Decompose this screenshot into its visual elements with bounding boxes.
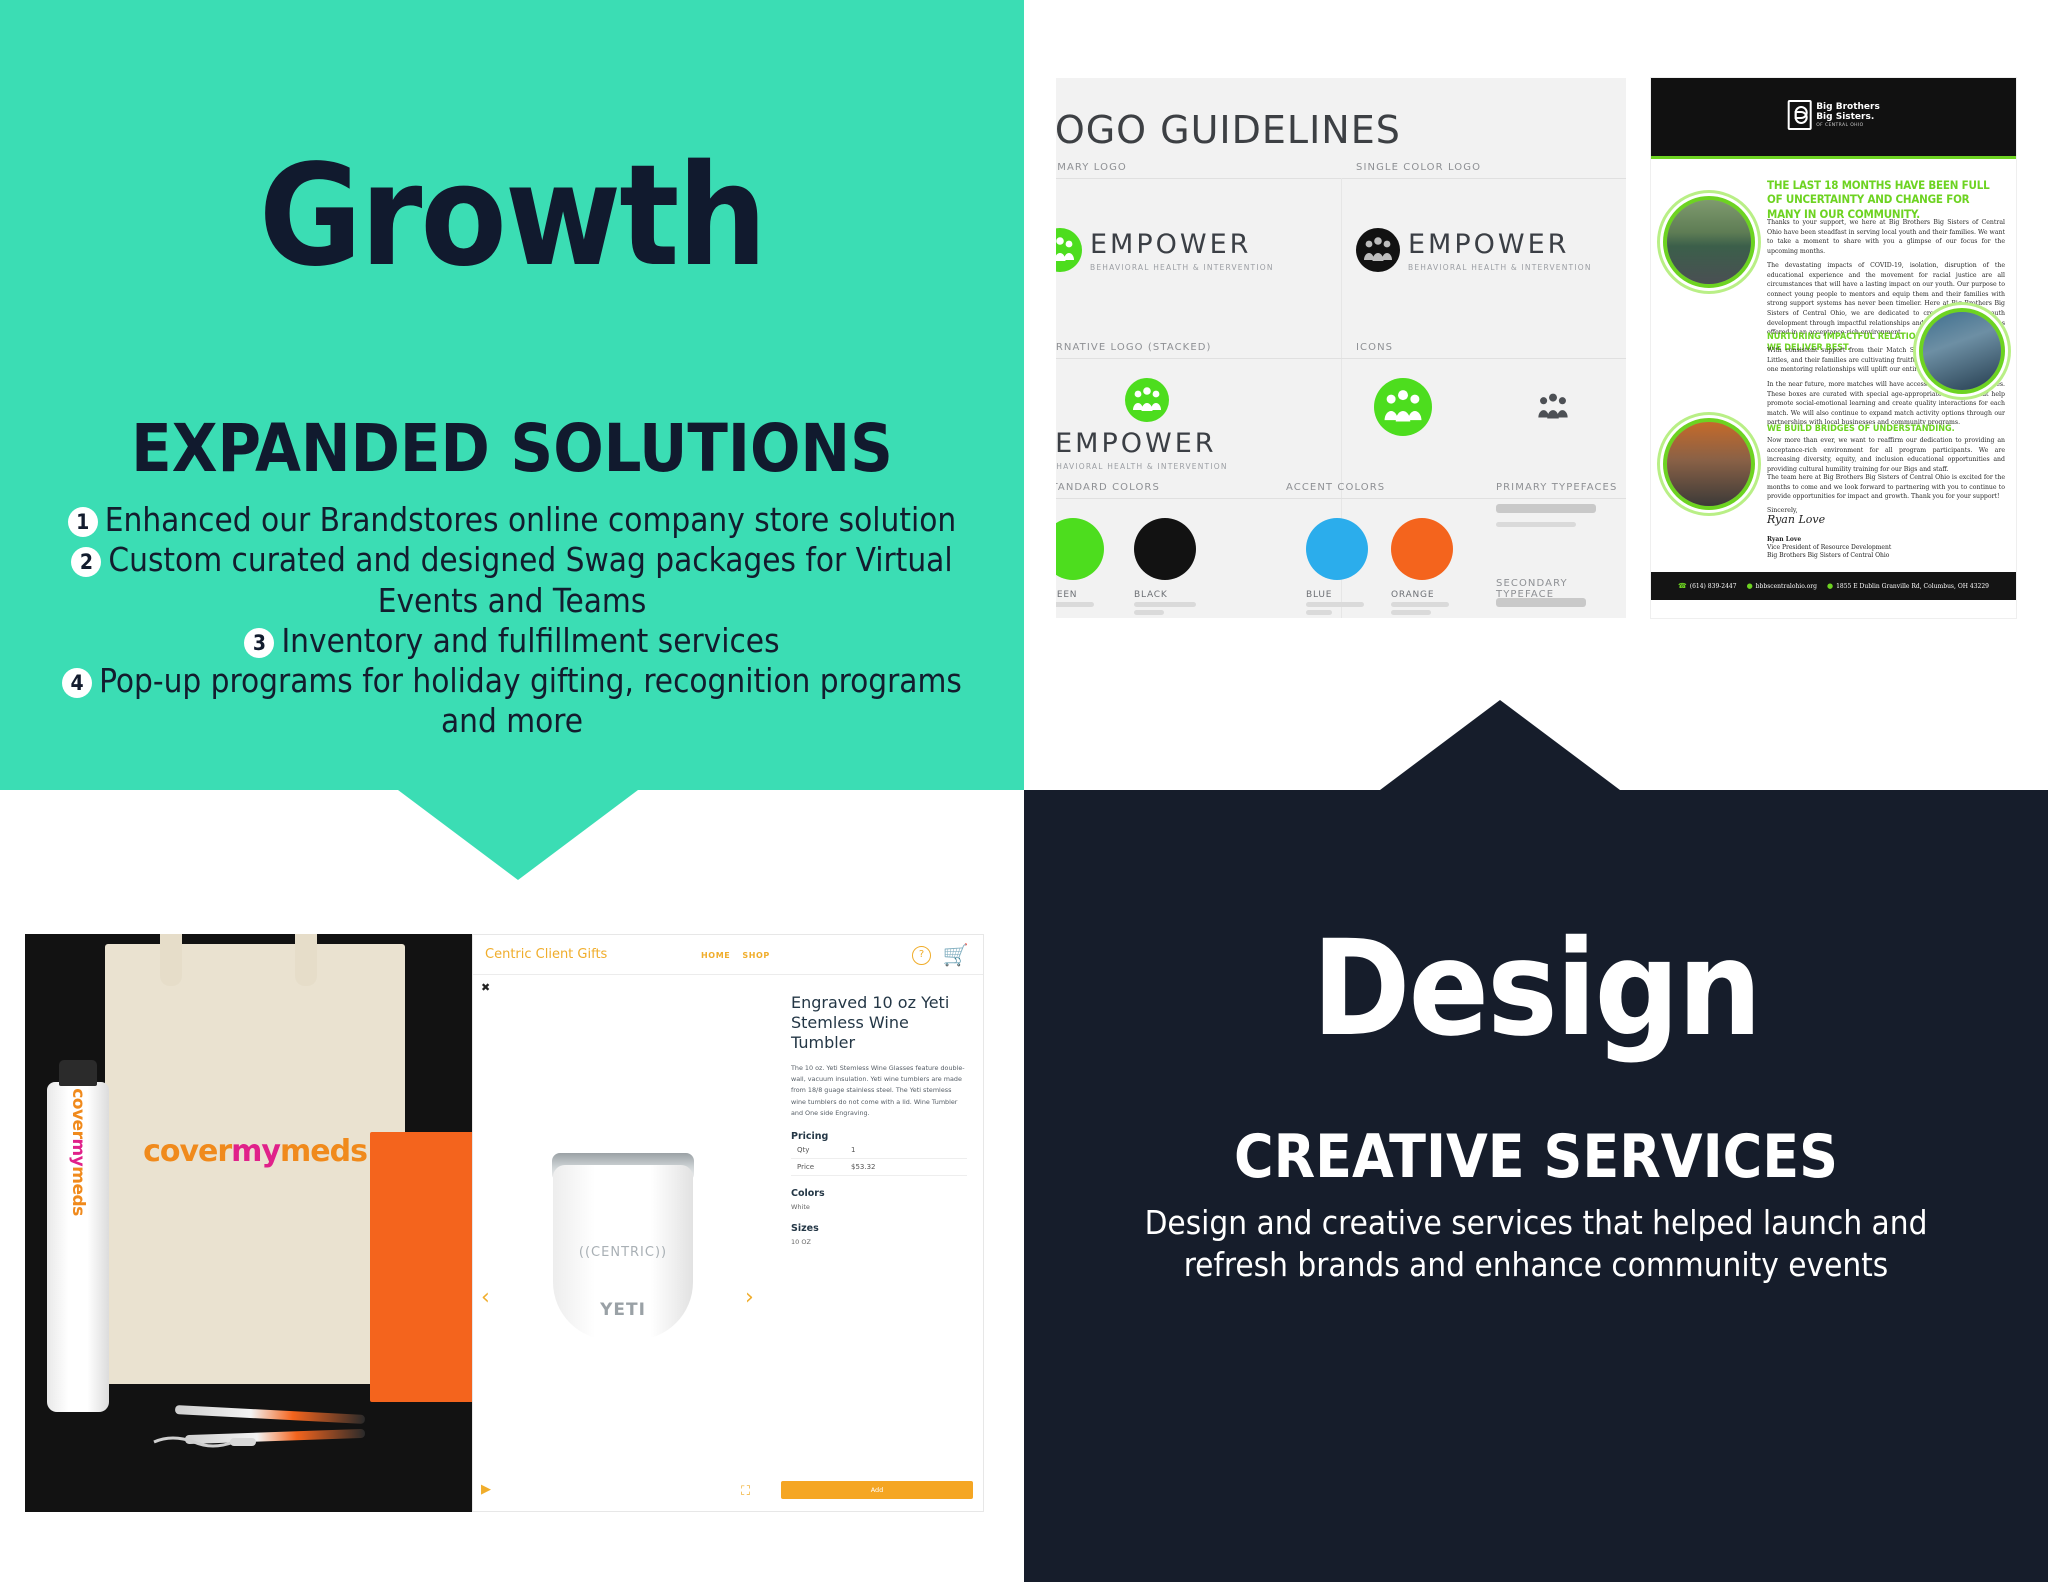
placeholder-line [1391,610,1431,615]
gallery-expand-icon[interactable]: ⛶ [741,1484,750,1499]
water-bottle: covermymeds [47,1082,109,1412]
help-icon[interactable]: ? [912,946,931,965]
tote-handle-left [160,934,182,986]
growth-panel: Growth EXPANDED SOLUTIONS 1Enhanced our … [0,0,1024,790]
bottle-cap [59,1060,97,1086]
empower-tagline: BEHAVIORAL HEALTH & INTERVENTION [1408,263,1592,272]
list-item: 1Enhanced our Brandstores online company… [50,500,974,540]
section-label-standard-colors: STANDARD COLORS [1056,482,1160,493]
bbbs-logo: Big Brothers Big Sisters. OF CENTRAL OHI… [1787,100,1880,130]
logo-part-meds: meds [68,1166,88,1216]
sizes-heading: Sizes [791,1223,967,1234]
bbbs-photo-2 [1919,308,2005,394]
nav-link-home[interactable]: HOME [701,951,730,960]
empower-mark-icon [1056,228,1082,272]
design-subtitle: CREATIVE SERVICES [1024,1122,2048,1192]
list-item-number: 3 [244,628,274,658]
swatch-black [1134,518,1196,580]
people-icon [1125,378,1169,422]
list-item-number: 4 [62,668,92,698]
people-icon-green [1374,378,1432,436]
covermymeds-logo-tote: covermymeds [105,1134,405,1169]
gallery-next-icon[interactable]: › [745,1285,754,1310]
product-description: The 10 oz. Yeti Stemless Wine Glasses fe… [791,1063,967,1119]
typeface-sample [1496,598,1586,607]
section-label-secondary-typeface: SECONDARY TYPEFACE [1496,578,1626,600]
empower-mark-mono-icon [1356,228,1400,272]
primary-logo-lockup: EMPOWER BEHAVIORAL HEALTH & INTERVENTION [1056,228,1274,272]
logo-part-meds: meds [280,1134,367,1169]
pen [175,1405,365,1424]
gallery-play-icon[interactable]: ▶ [481,1482,491,1497]
pricing-heading: Pricing [791,1131,967,1142]
section-label-single-color-logo: SINGLE COLOR LOGO [1356,162,1481,173]
swatch-label-green: GREEN [1056,590,1077,600]
globe-icon: ● [1747,582,1753,590]
store-brand-name[interactable]: Centric Client Gifts [485,947,607,962]
people-icon [1374,378,1432,436]
primary-logo-text: EMPOWER BEHAVIORAL HEALTH & INTERVENTION [1090,229,1274,272]
bbbs-paragraph-1: Thanks to your support, we here at Big B… [1767,218,2005,256]
covermymeds-logo-bottle: covermymeds [68,1088,88,1216]
bbbs-logo-line3: OF CENTRAL OHIO [1816,123,1880,128]
logo-part-cover: cover [68,1088,88,1138]
placeholder-line [1306,602,1364,607]
contact-address-label: 1855 E Dublin Granville Rd, Columbus, OH… [1836,583,1989,590]
bbbs-signer-title: Vice President of Resource Development [1767,544,1891,551]
list-item-label: Inventory and fulfillment services [281,621,779,660]
growth-solutions-list: 1Enhanced our Brandstores online company… [50,500,974,742]
price-value: $53.32 [851,1163,876,1171]
contact-website[interactable]: ● bbbscentralohio.org [1747,582,1817,590]
divider [1056,498,1626,499]
logo-part-cover: cover [143,1134,231,1169]
empower-wordmark: EMPOWER [1090,229,1274,260]
alternative-logo-stacked: EMPOWER BEHAVIORAL HEALTH & INTERVENTION [1066,378,1228,471]
people-icon-outline [1526,384,1580,430]
table-row: Price $53.32 [791,1159,967,1176]
bbbs-logo-text: Big Brothers Big Sisters. OF CENTRAL OHI… [1816,102,1880,128]
growth-subtitle: EXPANDED SOLUTIONS [0,410,1024,487]
list-item: 4Pop-up programs for holiday gifting, re… [50,661,974,742]
empower-mark-icon [1125,378,1169,422]
location-pin-icon: ● [1827,582,1833,590]
single-color-logo-text: EMPOWER BEHAVIORAL HEALTH & INTERVENTION [1408,229,1592,272]
price-label: Price [791,1163,851,1171]
nav-link-shop[interactable]: SHOP [742,951,770,960]
store-top-bar: Centric Client Gifts HOME SHOP ? 🛒 [473,935,983,975]
slide-root: Growth EXPANDED SOLUTIONS 1Enhanced our … [0,0,2048,1582]
add-to-cart-button[interactable]: Add [781,1481,973,1499]
growth-title: Growth [0,135,1024,298]
design-body-text: Design and creative services that helped… [1134,1202,1938,1286]
brand-sheets-group: LOGO GUIDELINES PRIMARY LOGO SINGLE COLO… [1056,78,2016,618]
list-item-label: Pop-up programs for holiday gifting, rec… [99,661,962,740]
empower-tagline: BEHAVIORAL HEALTH & INTERVENTION [1090,263,1274,272]
straw-brush [150,1434,260,1450]
contact-phone[interactable]: ☎ (614) 839-2447 [1678,582,1737,590]
typeface-sample [1496,504,1596,513]
section-label-primary-logo: PRIMARY LOGO [1056,162,1127,173]
contact-phone-label: (614) 839-2447 [1690,583,1737,590]
product-details: Engraved 10 oz Yeti Stemless Wine Tumble… [773,975,983,1511]
bbbs-paragraph-5: Now more than ever, we want to reaffirm … [1767,436,2005,474]
table-row: Qty 1 [791,1142,967,1159]
typeface-sample [1496,522,1576,527]
list-item: 3Inventory and fulfillment services [50,621,974,661]
section-label-alternative-logo: ALTERNATIVE LOGO (STACKED) [1056,342,1212,353]
bbbs-signer-org: Big Brothers Big Sisters of Central Ohio [1767,552,1889,559]
swag-panel: covermymeds covermymeds [0,790,1024,1582]
sizes-value: 10 OZ [791,1238,967,1246]
growth-arrow-pointer [398,790,638,880]
brand-collateral-panel: LOGO GUIDELINES PRIMARY LOGO SINGLE COLO… [1024,0,2048,790]
bbbs-photo-1 [1663,196,1755,288]
design-panel: Design CREATIVE SERVICES Design and crea… [1024,790,2048,1582]
divider [1056,358,1626,359]
tote-handle-right [295,934,317,986]
bbbs-heading: THE LAST 18 MONTHS HAVE BEEN FULL OF UNC… [1767,178,2002,221]
bbbs-subheading-2: WE BUILD BRIDGES OF UNDERSTANDING. [1767,424,2005,435]
bbbs-logo-line2: Big Sisters. [1816,112,1880,122]
product-title: Engraved 10 oz Yeti Stemless Wine Tumble… [791,993,967,1053]
qty-value: 1 [851,1146,855,1154]
single-color-logo-lockup: EMPOWER BEHAVIORAL HEALTH & INTERVENTION [1356,228,1592,272]
logo-guidelines-sheet: LOGO GUIDELINES PRIMARY LOGO SINGLE COLO… [1056,78,1626,618]
contact-website-label: bbbscentralohio.org [1756,583,1817,590]
bbbs-photo-3 [1663,418,1755,510]
store-nav: HOME SHOP [701,951,770,960]
bbbs-logo-line1: Big Brothers [1816,102,1880,112]
cart-icon[interactable]: 🛒 [943,945,969,966]
brush-icon [150,1434,260,1450]
contact-address: ● 1855 E Dublin Granville Rd, Columbus, … [1827,582,1989,590]
bbbs-signature: Ryan Love [1767,513,1825,526]
swatch-green [1056,518,1104,580]
list-item-label: Custom curated and designed Swag package… [108,540,952,619]
list-item-number: 1 [68,507,98,537]
brandstore-product-page: Centric Client Gifts HOME SHOP ? 🛒 ✖ ((C… [472,934,984,1512]
placeholder-line [1306,610,1332,615]
bbbs-paragraph-6: The team here at Big Brothers Big Sister… [1767,473,2005,502]
phone-icon: ☎ [1678,582,1687,590]
design-arrow-pointer [1380,700,1620,790]
icons-sample-mono [1526,384,1580,434]
empower-tagline: BEHAVIORAL HEALTH & INTERVENTION [1056,462,1228,471]
design-title: Design [1024,912,2048,1066]
empower-wordmark: EMPOWER [1408,229,1592,260]
people-icon [1056,228,1082,272]
guidelines-title: LOGO GUIDELINES [1056,108,1401,152]
empower-wordmark: EMPOWER [1056,428,1228,459]
colors-heading: Colors [791,1188,967,1199]
list-item: 2Custom curated and designed Swag packag… [50,540,974,621]
section-label-icons: ICONS [1356,342,1393,353]
bbbs-signer-name: Ryan Love [1767,536,1801,543]
logo-part-my: my [231,1134,280,1169]
placeholder-line [1391,602,1449,607]
colors-value: White [791,1203,967,1211]
orange-notebook [370,1132,472,1402]
yeti-brand-label: YETI [473,1300,773,1320]
placeholder-line [1056,602,1094,607]
close-icon[interactable]: ✖ [481,981,490,994]
engraving-label: ((CENTRIC)) [473,1245,773,1260]
icons-sample-green [1374,378,1432,436]
list-item-label: Enhanced our Brandstores online company … [105,500,956,539]
bbbs-accent-rule [1651,156,2016,159]
bbbs-contact-bar: ☎ (614) 839-2447 ● bbbscentralohio.org ●… [1651,572,2016,600]
swatch-blue [1306,518,1368,580]
swatch-label-black: BLACK [1134,590,1168,600]
section-label-primary-typefaces: PRIMARY TYPEFACES [1496,482,1617,493]
placeholder-line [1134,602,1196,607]
swatch-orange [1391,518,1453,580]
bbbs-letter-sheet: Big Brothers Big Sisters. OF CENTRAL OHI… [1651,78,2016,618]
gallery-prev-icon[interactable]: ‹ [481,1285,490,1310]
people-icon [1356,228,1400,272]
placeholder-line [1134,610,1164,615]
qty-label: Qty [791,1146,851,1154]
swatch-label-blue: BLUE [1306,590,1332,600]
list-item-number: 2 [71,547,101,577]
logo-part-my: my [68,1138,88,1166]
section-label-accent-colors: ACCENT COLORS [1286,482,1385,493]
product-gallery: ✖ ((CENTRIC)) YETI ‹ › ▶ ⛶ [473,975,773,1511]
bbbs-logo-icon [1787,100,1811,130]
swag-kit-photo: covermymeds covermymeds [25,934,472,1512]
tote-bag: covermymeds [105,944,405,1384]
swatch-label-orange: ORANGE [1391,590,1434,600]
